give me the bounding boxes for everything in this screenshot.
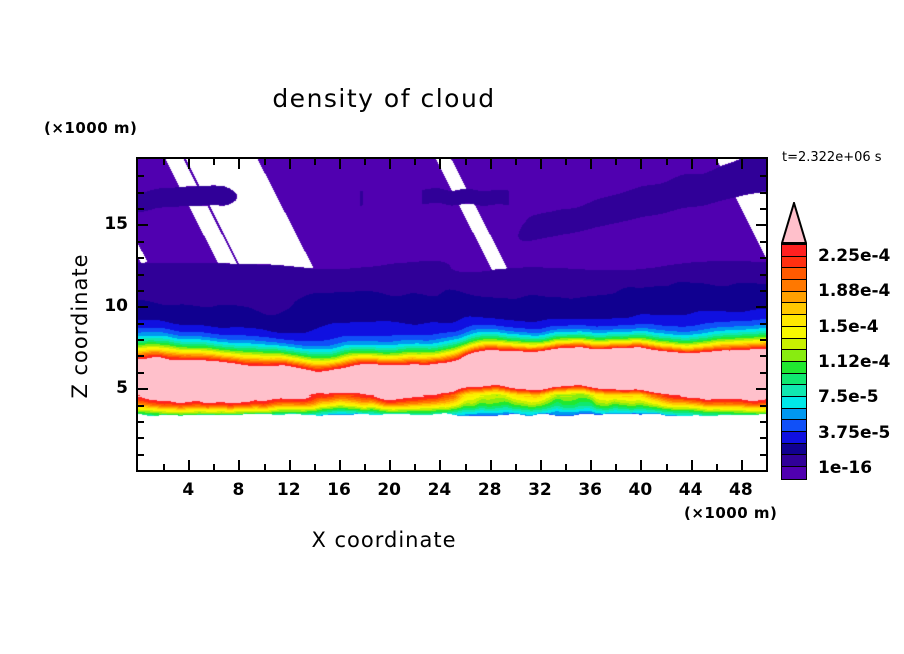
colorbar-band (782, 467, 806, 479)
x-tick (691, 460, 693, 470)
x-tick-top (213, 159, 215, 165)
x-tick-top (515, 159, 517, 165)
colorbar-band (782, 339, 806, 351)
colorbar-band (782, 280, 806, 292)
x-tick (490, 460, 492, 470)
x-axis-unit-label: (×1000 m) (684, 504, 777, 522)
colorbar-band (782, 385, 806, 397)
x-tick-label: 36 (578, 480, 602, 500)
colorbar-label: 1e-16 (818, 458, 872, 478)
x-tick-top (439, 159, 441, 169)
colorbar-band (782, 362, 806, 374)
y-tick-right (760, 355, 766, 357)
y-tick-label: 5 (96, 378, 128, 398)
colorbar-band (782, 444, 806, 456)
colorbar-band (782, 245, 806, 257)
contour-field-canvas (138, 159, 766, 470)
y-tick-label: 10 (96, 296, 128, 316)
colorbar-band (782, 315, 806, 327)
x-tick-top (741, 159, 743, 169)
y-tick (138, 241, 144, 243)
x-tick-top (264, 159, 266, 165)
colorbar-band (782, 257, 806, 269)
x-tick-top (540, 159, 542, 169)
y-tick-right (756, 306, 766, 308)
y-tick-right (760, 208, 766, 210)
x-tick (314, 464, 316, 470)
x-tick-top (615, 159, 617, 165)
y-tick-right (760, 257, 766, 259)
x-tick-label: 28 (478, 480, 502, 500)
colorbar-band (782, 292, 806, 304)
x-tick-label: 20 (377, 480, 401, 500)
x-tick-label: 4 (182, 480, 194, 500)
x-tick (515, 464, 517, 470)
x-tick-top (666, 159, 668, 165)
x-tick-top (163, 159, 165, 165)
x-tick-label: 40 (629, 480, 653, 500)
x-tick (640, 460, 642, 470)
x-tick-label: 44 (679, 480, 703, 500)
y-tick-right (760, 290, 766, 292)
x-tick (364, 464, 366, 470)
y-axis-unit-label: (×1000 m) (44, 119, 137, 137)
y-tick (138, 355, 144, 357)
colorbar-band (782, 268, 806, 280)
x-tick (389, 460, 391, 470)
x-tick-label: 48 (729, 480, 753, 500)
x-tick (615, 464, 617, 470)
y-tick (138, 224, 148, 226)
y-tick-right (760, 192, 766, 194)
x-tick-top (238, 159, 240, 169)
y-tick-right (760, 274, 766, 276)
x-tick-top (414, 159, 416, 165)
colorbar-label: 1.88e-4 (818, 281, 890, 301)
x-tick-top (465, 159, 467, 165)
x-tick (540, 460, 542, 470)
x-tick (289, 460, 291, 470)
x-tick-label: 32 (528, 480, 552, 500)
page-title: density of cloud (0, 84, 768, 113)
colorbar-band (782, 409, 806, 421)
colorbar-over-arrow-icon (781, 202, 807, 244)
x-tick (213, 464, 215, 470)
x-tick-top (590, 159, 592, 169)
x-tick-top (364, 159, 366, 165)
x-tick (188, 460, 190, 470)
colorbar-band (782, 420, 806, 432)
colorbar-band (782, 303, 806, 315)
y-tick (138, 175, 144, 177)
y-tick-right (760, 241, 766, 243)
colorbar-label: 2.25e-4 (818, 246, 890, 266)
x-tick-top (339, 159, 341, 169)
x-tick-top (565, 159, 567, 165)
y-tick-right (756, 388, 766, 390)
y-tick-right (760, 175, 766, 177)
x-tick (666, 464, 668, 470)
y-tick-right (760, 323, 766, 325)
x-tick-label: 12 (277, 480, 301, 500)
x-tick (439, 460, 441, 470)
x-tick (716, 464, 718, 470)
x-tick-top (640, 159, 642, 169)
colorbar-label: 1.12e-4 (818, 352, 890, 372)
x-tick (465, 464, 467, 470)
x-tick-top (766, 159, 768, 165)
y-tick (138, 306, 148, 308)
y-tick (138, 339, 144, 341)
y-tick (138, 421, 144, 423)
y-tick-right (760, 421, 766, 423)
colorbar-band (782, 327, 806, 339)
x-tick (741, 460, 743, 470)
y-tick (138, 274, 144, 276)
y-tick (138, 388, 148, 390)
timestamp-annotation: t=2.322e+06 s (782, 150, 882, 165)
x-tick-top (490, 159, 492, 169)
x-tick-label: 24 (428, 480, 452, 500)
colorbar (781, 202, 807, 480)
x-tick-top (314, 159, 316, 165)
x-tick (163, 464, 165, 470)
x-tick (565, 464, 567, 470)
y-tick-right (760, 405, 766, 407)
y-tick (138, 323, 144, 325)
plot-frame (136, 157, 768, 472)
colorbar-band (782, 350, 806, 362)
x-tick-top (289, 159, 291, 169)
x-tick (238, 460, 240, 470)
y-axis-title: Z coordinate (68, 241, 92, 411)
y-tick-right (760, 454, 766, 456)
x-tick-top (188, 159, 190, 169)
y-tick (138, 372, 144, 374)
x-tick-top (691, 159, 693, 169)
x-tick-label: 16 (327, 480, 351, 500)
y-tick (138, 208, 144, 210)
y-tick (138, 454, 144, 456)
x-tick (264, 464, 266, 470)
x-tick (766, 464, 768, 470)
colorbar-band (782, 374, 806, 386)
colorbar-bands (781, 244, 807, 480)
x-tick-top (716, 159, 718, 165)
y-tick (138, 405, 144, 407)
x-tick (590, 460, 592, 470)
y-tick (138, 257, 144, 259)
y-tick (138, 192, 144, 194)
colorbar-label: 1.5e-4 (818, 317, 879, 337)
x-tick-top (389, 159, 391, 169)
y-tick-right (760, 372, 766, 374)
y-tick-right (756, 224, 766, 226)
y-tick-right (760, 339, 766, 341)
colorbar-label: 7.5e-5 (818, 387, 879, 407)
colorbar-band (782, 455, 806, 467)
y-tick (138, 437, 144, 439)
y-tick (138, 290, 144, 292)
y-tick-label: 15 (96, 214, 128, 234)
x-axis-title: X coordinate (0, 528, 768, 552)
colorbar-band (782, 397, 806, 409)
y-tick-right (760, 437, 766, 439)
colorbar-band (782, 432, 806, 444)
x-tick (414, 464, 416, 470)
colorbar-label: 3.75e-5 (818, 423, 890, 443)
x-tick (339, 460, 341, 470)
x-tick-label: 8 (233, 480, 245, 500)
